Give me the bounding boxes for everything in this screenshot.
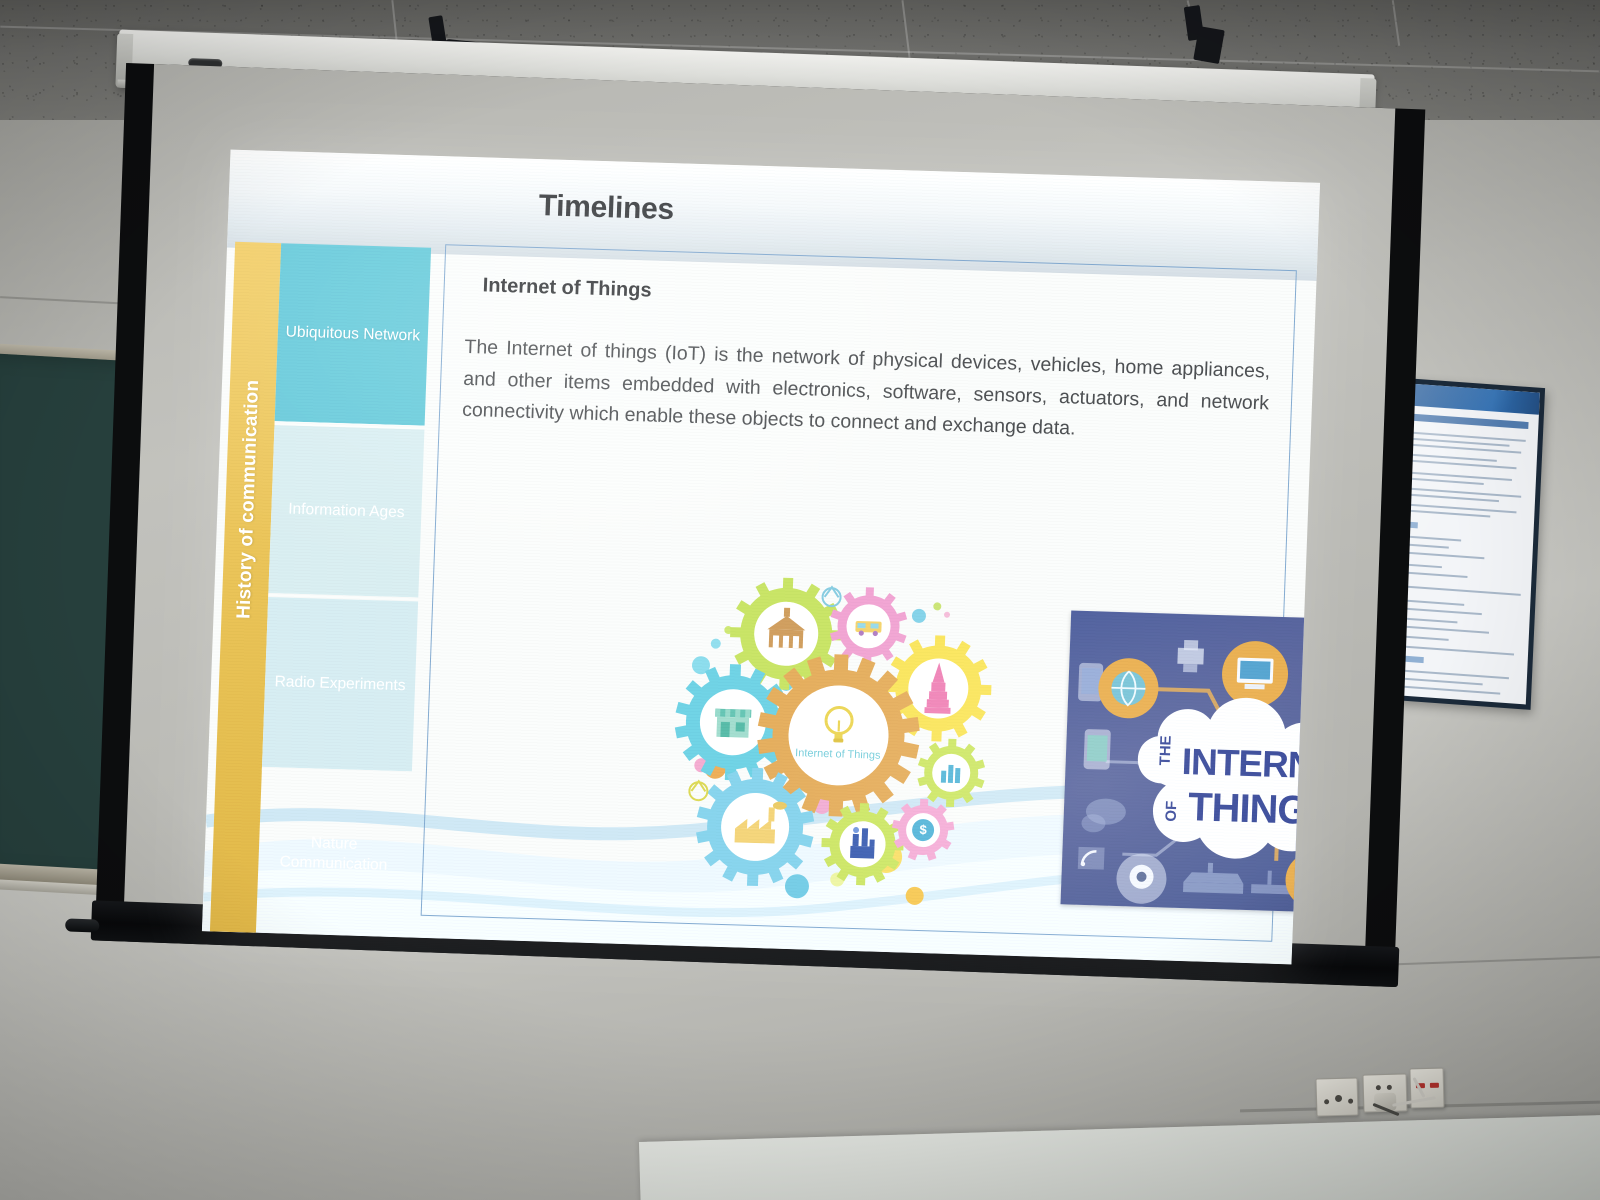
sidebar-item-radio-experiments[interactable]: Radio Experiments <box>262 597 418 771</box>
decor-dot <box>711 639 721 649</box>
outlet-hole <box>1387 1085 1392 1090</box>
gears-infographic: Internet of Things <box>668 569 1010 909</box>
svg-text:$: $ <box>919 822 928 837</box>
gear-illustration: Internet of Things <box>668 569 1010 909</box>
cloud-text-of: OF <box>1163 801 1181 822</box>
iot-poster-graphic: 2 WiFi <box>1060 610 1320 916</box>
cloud-text-the: THE <box>1157 735 1175 765</box>
decor-dot <box>905 887 924 906</box>
slide-canvas: Timelines History of communication Ubiqu… <box>202 150 1320 965</box>
rss-icon <box>1078 847 1105 870</box>
content-body-text: The Internet of things (IoT) is the netw… <box>462 332 1271 451</box>
printer-icon <box>1177 640 1204 673</box>
sidebar-item-label: Ubiquitous Network <box>285 322 420 347</box>
page-title: Timelines <box>538 189 674 227</box>
sidebar-item-information-ages[interactable]: Information Ages <box>268 425 424 597</box>
decor-dot <box>785 874 810 899</box>
chat-bubble-icon <box>1081 798 1126 833</box>
sidebar-item-label: Information Ages <box>288 499 405 523</box>
outlet-hole <box>1335 1095 1342 1102</box>
ship-icon <box>1183 862 1244 894</box>
bicycle-outline-icon <box>822 587 841 607</box>
projected-slide: Timelines History of communication Ubiqu… <box>202 150 1320 965</box>
iot-poster-image: 2 WiFi <box>1060 610 1320 916</box>
weight-bar-end-knob <box>65 918 99 932</box>
decor-dot <box>944 612 950 618</box>
outlet-hole <box>1324 1099 1329 1104</box>
red-connector <box>1430 1083 1439 1088</box>
bicycle-outline-icon <box>689 781 708 801</box>
circle-badge-webcam <box>1116 853 1168 904</box>
sidebar-item-label: Radio Experiments <box>274 672 406 696</box>
outlet-hole <box>1376 1085 1381 1090</box>
sidebar-item-nature-communication[interactable]: Nature Communication <box>256 771 412 937</box>
wall-outlet-plate-1[interactable] <box>1315 1077 1358 1116</box>
decor-dot <box>933 602 941 610</box>
gear-analytics <box>916 738 986 808</box>
mobile-device-icon <box>1083 729 1110 770</box>
decor-dot <box>912 609 927 623</box>
sidebar-nav: Ubiquitous Network Information Ages Radi… <box>256 243 431 937</box>
content-card: Internet of Things The Internet of thing… <box>421 244 1297 942</box>
content-heading: Internet of Things <box>482 274 652 302</box>
outlet-hole <box>1348 1099 1353 1104</box>
sidebar-item-ubiquitous-network[interactable]: Ubiquitous Network <box>275 243 431 425</box>
shop-icon <box>714 709 751 738</box>
sidebar-item-label: Nature Communication <box>258 831 409 876</box>
classroom-photo-scene: Timelines History of communication Ubiqu… <box>0 0 1600 1200</box>
sidebar-vertical-label: History of communication <box>233 364 265 634</box>
